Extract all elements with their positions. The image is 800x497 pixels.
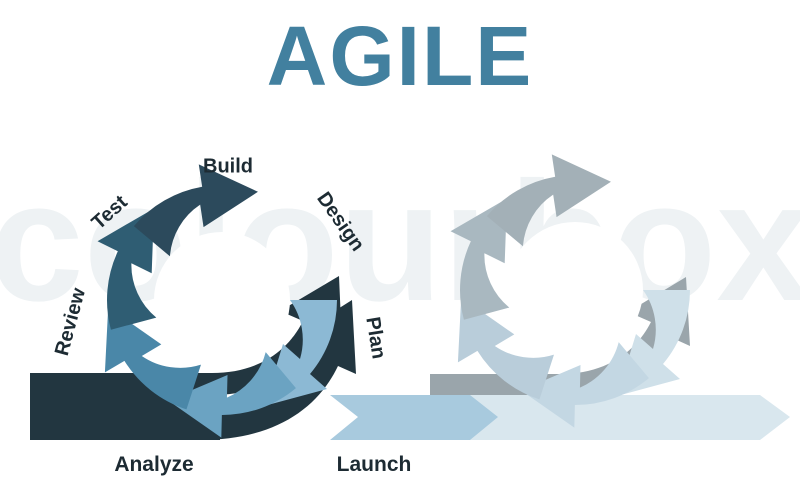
primary-inner-hole bbox=[154, 232, 290, 368]
ghost-inner-hole bbox=[507, 222, 643, 358]
label-build: Build bbox=[203, 156, 253, 179]
label-launch: Launch bbox=[337, 453, 412, 477]
label-analyze: Analyze bbox=[114, 453, 193, 477]
band-left-chevron bbox=[330, 395, 498, 440]
page-title: AGILE bbox=[0, 14, 800, 98]
agile-infographic: colourbox bbox=[0, 0, 800, 497]
